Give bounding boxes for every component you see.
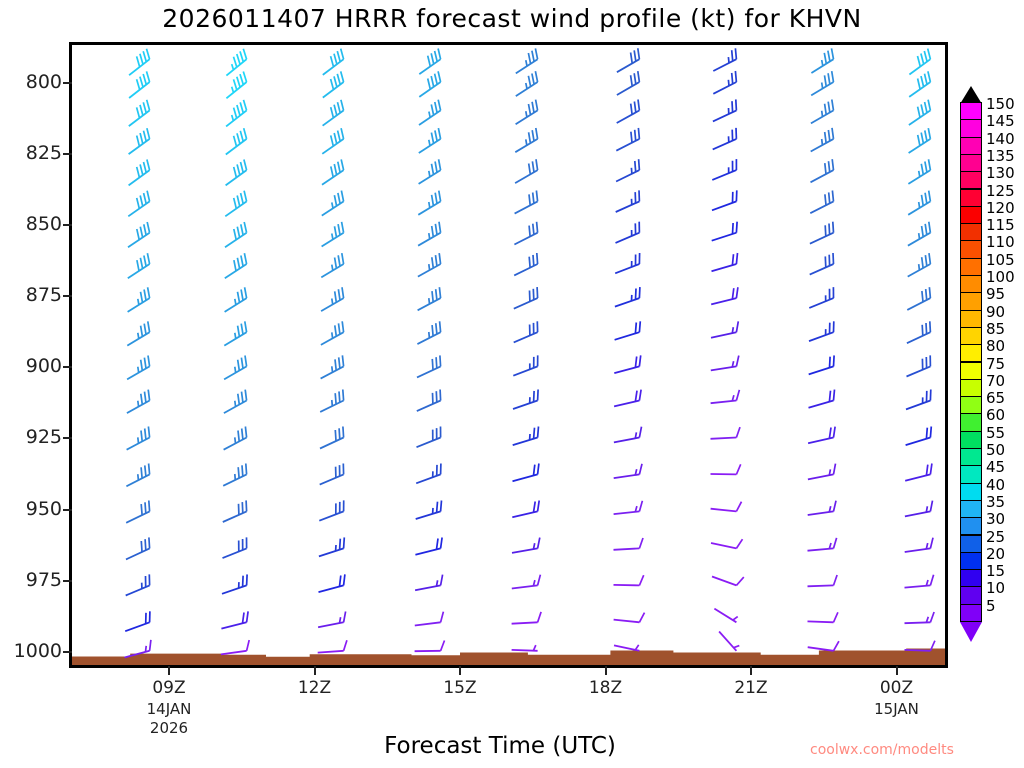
wind-barb [907, 355, 931, 376]
wind-barb [417, 355, 441, 377]
pressure-tick-label: 1000 [2, 640, 62, 662]
colorbar-swatch [960, 327, 982, 345]
wind-barb [224, 321, 246, 345]
wind-barb [323, 71, 344, 97]
wind-barb [221, 640, 249, 654]
wind-barb [224, 390, 247, 414]
wind-barb [908, 191, 930, 215]
colorbar-swatch [960, 500, 982, 518]
wind-barb [129, 71, 150, 98]
wind-barb [909, 100, 931, 125]
wind-barb [128, 222, 150, 247]
wind-barb [711, 287, 738, 304]
colorbar-swatch [960, 448, 982, 466]
wind-barb [418, 253, 441, 277]
pressure-tick-mark [63, 295, 72, 297]
wind-barb [128, 191, 149, 217]
plot-canvas [72, 45, 945, 665]
colorbar-swatch [960, 258, 982, 276]
wind-barb [711, 321, 738, 337]
wind-barb [128, 253, 150, 278]
pressure-tick-label: 800 [2, 71, 62, 93]
wind-barb [318, 640, 347, 652]
page-title: 2026011407 HRRR forecast wind profile (k… [0, 4, 1024, 33]
wind-barb [616, 128, 639, 151]
wind-barb [225, 287, 247, 312]
wind-barb [419, 100, 441, 125]
colorbar-swatch [960, 396, 982, 414]
wind-barb [810, 191, 833, 214]
wind-barb [713, 128, 737, 149]
colorbar-tick-label: 125 [986, 184, 1015, 199]
time-tick-sublabel: 14JAN [129, 700, 209, 718]
wind-barb [416, 501, 442, 520]
wind-barb [417, 427, 441, 448]
wind-barb [127, 356, 150, 380]
wind-barb [419, 159, 441, 184]
wind-barb [225, 222, 247, 247]
wind-barb [712, 190, 737, 210]
terrain-polygon [72, 649, 945, 666]
colorbar-tick-label: 45 [986, 460, 1005, 475]
wind-barb [616, 159, 639, 181]
wind-barb [415, 612, 444, 626]
colorbar-swatch [960, 379, 982, 397]
wind-barb [515, 159, 538, 183]
wind-barb [322, 222, 344, 247]
wind-barb [905, 575, 934, 588]
wind-barb [617, 48, 640, 72]
wind-barb [809, 321, 834, 341]
wind-barb [128, 287, 150, 312]
time-tick-label: 15Z [420, 678, 500, 698]
wind-barb [319, 500, 343, 520]
wind-barb [614, 501, 643, 514]
colorbar-tick-label: 120 [986, 201, 1015, 216]
colorbar-swatch [960, 137, 982, 155]
wind-barb [907, 321, 931, 343]
colorbar-swatch [960, 604, 982, 622]
wind-barb [515, 191, 538, 214]
wind-barb [416, 464, 441, 484]
colorbar-swatch [960, 275, 982, 293]
wind-barb [908, 222, 931, 246]
wind-barb [614, 355, 640, 373]
wind-barb [713, 71, 736, 94]
colorbar-swatch [960, 552, 982, 570]
wind-barb [905, 501, 933, 517]
wind-barb [906, 390, 931, 410]
wind-barb [225, 191, 246, 217]
colorbar-swatch [960, 344, 982, 362]
colorbar-tick-label: 140 [986, 132, 1015, 147]
time-tick-sublabel: 2026 [129, 719, 209, 737]
wind-barb [808, 464, 836, 480]
wind-barb [224, 356, 247, 380]
colorbar-swatch [960, 362, 982, 380]
wind-barb [808, 501, 836, 515]
wind-barb [713, 48, 736, 71]
wind-barb [615, 253, 639, 273]
wind-barb [712, 222, 737, 241]
wind-barb [226, 100, 247, 127]
wind-barb [712, 253, 738, 271]
colorbar-tick-label: 145 [986, 114, 1015, 129]
colorbar-swatch [960, 102, 982, 120]
wind-barb [321, 287, 344, 311]
wind-barb [809, 355, 834, 374]
wind-barb [126, 464, 149, 487]
wind-barb [516, 100, 538, 125]
wind-barb [711, 390, 740, 403]
wind-barb [417, 321, 440, 344]
wind-barb [225, 253, 247, 278]
wind-barb [222, 574, 247, 593]
colorbar-tick-label: 130 [986, 166, 1015, 181]
time-tick-mark [605, 666, 607, 675]
wind-barb [809, 287, 833, 308]
colorbar-tick-label: 35 [986, 495, 1005, 510]
colorbar-tick-label: 5 [986, 599, 996, 614]
time-tick-label: 12Z [275, 678, 355, 698]
colorbar-tick-label: 55 [986, 426, 1005, 441]
wind-speed-colorbar: 1501451401351301251201151101051009590858… [958, 86, 1024, 652]
wind-barb [617, 100, 640, 124]
wind-barb [808, 575, 838, 586]
wind-barb [711, 427, 741, 439]
wind-barb [418, 287, 441, 310]
wind-barb [320, 464, 344, 485]
wind-barb [808, 612, 838, 622]
colorbar-tick-label: 10 [986, 581, 1005, 596]
pressure-tick-label: 950 [2, 498, 62, 520]
wind-barb [323, 100, 344, 126]
wind-barb [321, 355, 344, 378]
colorbar-tick-label: 150 [986, 97, 1015, 112]
wind-barb [415, 575, 443, 591]
wind-barb [126, 574, 150, 595]
wind-barb [711, 502, 742, 512]
wind-barb [810, 222, 834, 244]
wind-barb [127, 390, 150, 414]
wind-barb [129, 128, 150, 154]
pressure-tick-label: 925 [2, 426, 62, 448]
wind-barb [514, 287, 538, 309]
wind-barb [512, 501, 539, 518]
time-tick-label: 21Z [711, 678, 791, 698]
wind-barb [808, 427, 835, 444]
wind-barb [907, 287, 930, 310]
wind-barb [614, 464, 642, 478]
wind-barb [811, 128, 834, 152]
wind-barb [322, 128, 343, 154]
watermark-link[interactable]: coolwx.com/modelts [810, 742, 1020, 758]
colorbar-tick-label: 60 [986, 408, 1005, 423]
wind-barb [419, 49, 440, 75]
wind-barb [129, 160, 150, 186]
wind-barb [226, 72, 246, 99]
pressure-tick-label: 850 [2, 213, 62, 235]
colorbar-swatch [960, 483, 982, 501]
wind-barb [419, 71, 440, 97]
wind-barb [906, 427, 932, 446]
wind-barb [616, 222, 640, 243]
wind-barb [221, 611, 248, 628]
colorbar-tick-label: 105 [986, 253, 1015, 268]
wind-barb [719, 632, 739, 651]
time-tick-mark [168, 666, 170, 675]
colorbar-swatch [960, 292, 982, 310]
pressure-tick-mark [63, 224, 72, 226]
wind-barb [513, 390, 538, 410]
wind-barb [513, 427, 539, 446]
wind-barb [809, 390, 835, 408]
wind-barb [126, 501, 149, 523]
wind-barb [415, 641, 445, 652]
colorbar-swatch [960, 586, 982, 604]
pressure-tick-label: 900 [2, 355, 62, 377]
pressure-tick-mark [63, 366, 72, 368]
pressure-tick-label: 975 [2, 569, 62, 591]
colorbar-swatch [960, 171, 982, 189]
colorbar-tick-label: 20 [986, 547, 1005, 562]
pressure-tick-mark [63, 437, 72, 439]
wind-barb [514, 321, 538, 342]
wind-barb [513, 464, 539, 482]
wind-barb [811, 100, 834, 124]
time-tick-label: 00Z [857, 678, 937, 698]
colorbar-tick-label: 30 [986, 512, 1005, 527]
wind-barb [223, 500, 247, 522]
colorbar-tick-label: 95 [986, 287, 1005, 302]
wind-barb [322, 159, 344, 184]
wind-barb [514, 253, 537, 275]
colorbar-swatch [960, 223, 982, 241]
colorbar-tick-label: 75 [986, 357, 1005, 372]
colorbar-swatch [960, 189, 982, 207]
wind-barb [224, 427, 247, 450]
colorbar-tick-label: 90 [986, 305, 1005, 320]
time-tick-sublabel: 15JAN [857, 700, 937, 718]
wind-barb [512, 645, 538, 651]
colorbar-tick-label: 80 [986, 339, 1005, 354]
time-tick-mark [459, 666, 461, 675]
wind-barb [617, 71, 640, 95]
wind-barb [417, 390, 441, 412]
colorbar-swatch [960, 310, 982, 328]
wind-barb [516, 71, 538, 96]
wind-barb [321, 321, 344, 345]
wind-barb [810, 253, 834, 275]
wind-barb [319, 574, 345, 592]
wind-barb [811, 71, 833, 95]
colorbar-tick-label: 135 [986, 149, 1015, 164]
xaxis-title: Forecast Time (UTC) [220, 733, 780, 759]
wind-barb [614, 613, 645, 623]
pressure-tick-mark [63, 580, 72, 582]
colorbar-swatch [960, 206, 982, 224]
wind-barb [127, 427, 150, 450]
wind-barb [808, 538, 837, 551]
wind-barb [226, 160, 247, 186]
wind-barb [614, 390, 641, 407]
time-tick-mark [750, 666, 752, 675]
pressure-tick-mark [63, 509, 72, 511]
wind-barb [514, 222, 537, 245]
wind-barb [515, 128, 537, 152]
wind-barb [418, 191, 440, 215]
wind-barb [616, 190, 640, 212]
colorbar-tick-label: 15 [986, 564, 1005, 579]
colorbar-swatch [960, 517, 982, 535]
wind-barb [318, 612, 346, 628]
wind-barb [908, 159, 930, 184]
wind-barb [223, 537, 247, 558]
wind-barb [129, 49, 150, 75]
colorbar-swatch [960, 431, 982, 449]
wind-barb [614, 575, 644, 585]
time-tick-mark [314, 666, 316, 675]
wind-barb [909, 128, 931, 153]
pressure-tick-mark [63, 651, 72, 653]
colorbar-tick-label: 110 [986, 235, 1015, 250]
wind-barb [323, 49, 344, 75]
colorbar-swatch [960, 154, 982, 172]
wind-barb [516, 48, 538, 73]
pressure-tick-mark [63, 153, 72, 155]
wind-barb [908, 253, 931, 277]
wind-barb [321, 253, 343, 277]
wind-barb [319, 537, 344, 556]
wind-barb [512, 575, 541, 589]
terrain-shape [72, 649, 945, 666]
colorbar-swatch [960, 413, 982, 431]
wind-profile-plot [69, 42, 948, 668]
colorbar-under-arrow [960, 622, 986, 642]
wind-barb [808, 641, 839, 651]
colorbar-swatch [960, 119, 982, 137]
wind-barb [513, 355, 537, 375]
time-tick-label: 18Z [566, 678, 646, 698]
colorbar-tick-label: 25 [986, 530, 1005, 545]
wind-barb [905, 612, 935, 623]
pressure-tick-mark [63, 82, 72, 84]
wind-barb [126, 537, 150, 559]
colorbar-swatch [960, 569, 982, 587]
wind-barb [811, 48, 833, 73]
wind-barb [419, 128, 441, 153]
wind-barb [615, 321, 641, 340]
wind-barb [320, 390, 343, 412]
wind-barb [512, 538, 540, 553]
wind-barb [226, 128, 247, 154]
wind-barb [711, 539, 743, 548]
time-tick-mark [896, 666, 898, 675]
colorbar-tick-label: 65 [986, 391, 1005, 406]
wind-barb [322, 191, 344, 216]
colorbar-tick-label: 85 [986, 322, 1005, 337]
colorbar-tick-label: 40 [986, 478, 1005, 493]
colorbar-swatch [960, 465, 982, 483]
wind-barb [512, 612, 541, 624]
wind-barb [712, 159, 736, 180]
wind-barb [223, 464, 246, 486]
colorbar-tick-label: 70 [986, 374, 1005, 389]
time-tick-label: 09Z [129, 678, 209, 698]
wind-barb [614, 645, 639, 651]
wind-barb [615, 287, 640, 307]
wind-barb [129, 100, 150, 126]
wind-barb [905, 538, 933, 552]
colorbar-tick-label: 100 [986, 270, 1015, 285]
pressure-tick-label: 875 [2, 284, 62, 306]
wind-barb [905, 464, 932, 481]
wind-barb [711, 464, 741, 474]
wind-barb [811, 159, 834, 182]
pressure-tick-label: 825 [2, 142, 62, 164]
wind-barb [415, 538, 442, 555]
wind-barb [127, 321, 149, 345]
wind-barb [711, 356, 739, 371]
wind-barb [714, 609, 737, 623]
wind-barb [125, 611, 150, 631]
colorbar-tick-label: 115 [986, 218, 1015, 233]
wind-barb [614, 538, 644, 550]
wind-barb [909, 71, 930, 97]
wind-barb [320, 427, 344, 449]
wind-barb [614, 427, 642, 443]
wind-barb [418, 222, 441, 246]
wind-barb [712, 577, 744, 586]
colorbar-swatch [960, 535, 982, 553]
colorbar-tick-label: 50 [986, 443, 1005, 458]
wind-barb-layer [125, 48, 935, 657]
wind-barb [909, 49, 930, 75]
colorbar-swatch [960, 240, 982, 258]
wind-barb [713, 99, 737, 121]
